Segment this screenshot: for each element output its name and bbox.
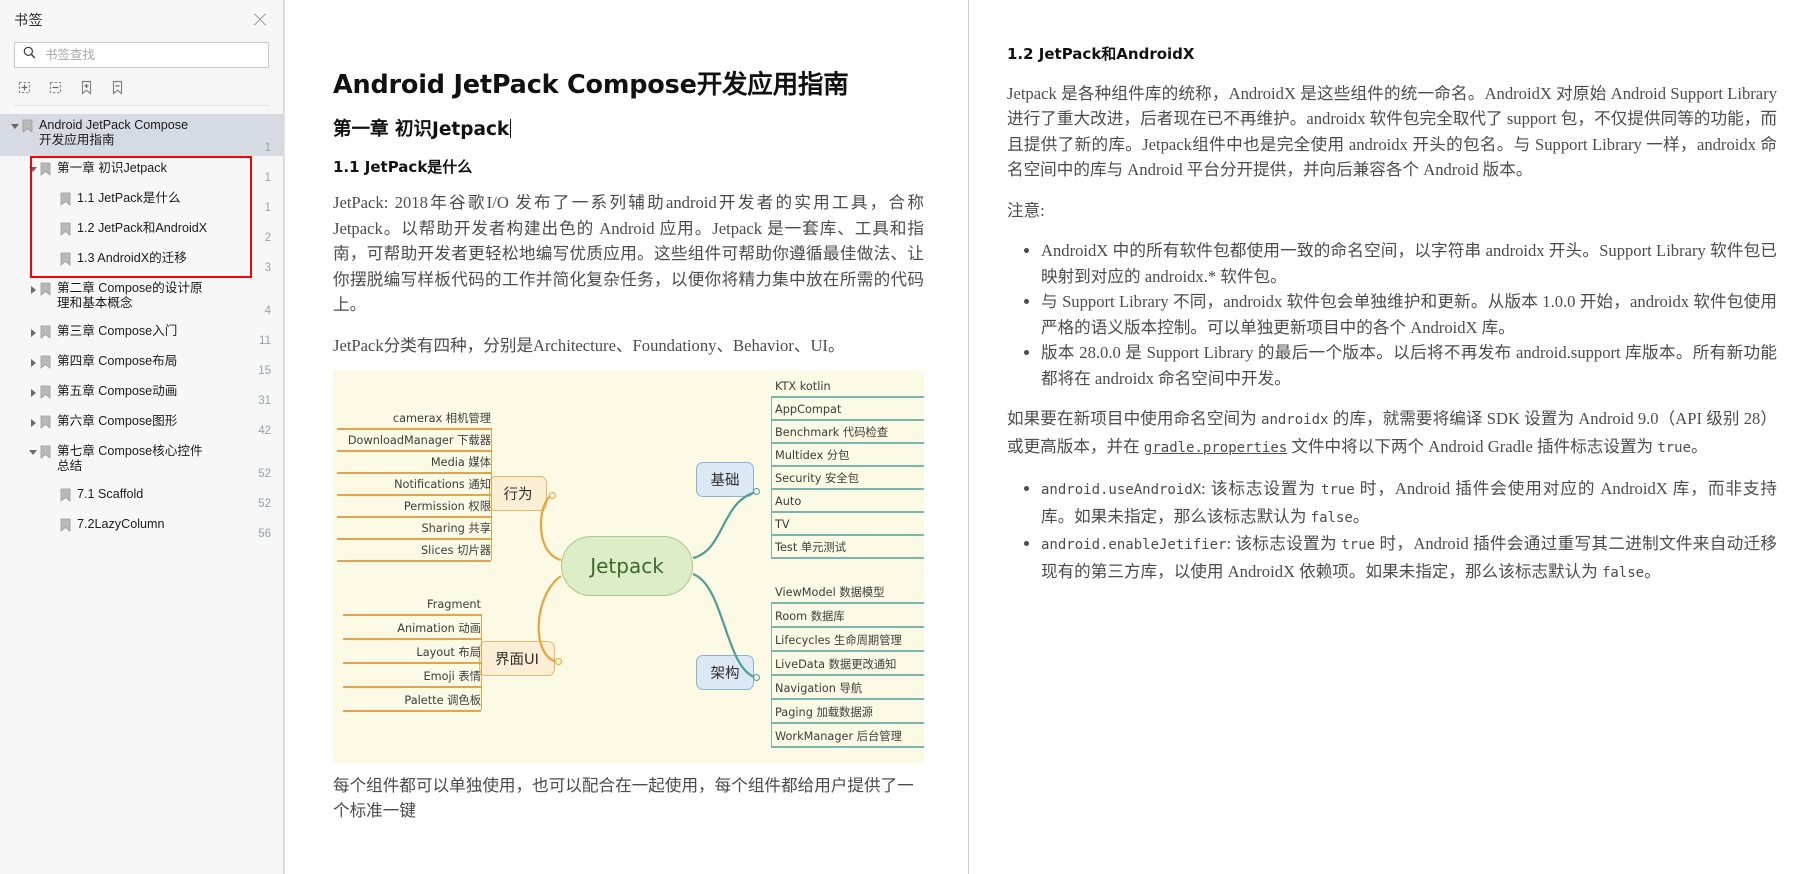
bookmark-icon bbox=[60, 518, 74, 537]
bookmark-page-number: 3 bbox=[265, 262, 271, 274]
bookmark-label: 第三章 Compose入门 bbox=[54, 324, 283, 339]
bookmark-page-number: 1 bbox=[265, 142, 271, 154]
bookmark-item[interactable]: 1.2 JetPack和AndroidX2 bbox=[0, 216, 283, 246]
bookmark-icon bbox=[40, 355, 54, 374]
bookmark-page-number: 56 bbox=[258, 528, 271, 540]
bookmark-page-number: 4 bbox=[265, 305, 271, 317]
note-label: 注意: bbox=[1007, 198, 1777, 224]
bookmark-icon bbox=[60, 192, 74, 211]
chevron-right-icon[interactable] bbox=[28, 325, 40, 341]
sidebar-title: 书签 bbox=[14, 10, 43, 30]
bookmark-item[interactable]: 第七章 Compose核心控件 总结52 bbox=[0, 439, 283, 482]
gradle-properties-link[interactable]: gradle.properties bbox=[1144, 440, 1287, 456]
list-item: 与 Support Library 不同，androidx 软件包会单独维护和更… bbox=[1041, 289, 1777, 340]
bookmark-icon bbox=[22, 119, 36, 138]
page-1: Android JetPack Compose开发应用指南 第一章 初识Jetp… bbox=[284, 0, 968, 874]
bookmark-icon bbox=[40, 415, 54, 434]
bookmark-item[interactable]: 第二章 Compose的设计原 理和基本概念4 bbox=[0, 276, 283, 319]
figure-caption: 每个组件都可以单独使用，也可以配合在一起使用，每个组件都给用户提供了一个标准一键 bbox=[333, 773, 924, 823]
close-icon[interactable] bbox=[251, 11, 269, 29]
right-paragraph-1: Jetpack 是各种组件库的统称，AndroidX 是这些组件的统一命名。An… bbox=[1007, 81, 1777, 183]
bookmark-page-number: 42 bbox=[258, 425, 271, 437]
expand-all-icon[interactable] bbox=[16, 79, 33, 96]
bookmark-label: 第二章 Compose的设计原 理和基本概念 bbox=[54, 281, 283, 311]
chapter-heading-text: 第一章 初识Jetpack bbox=[333, 119, 509, 140]
bookmark-tree: Android JetPack Compose 开发应用指南1第一章 初识Jet… bbox=[0, 110, 283, 874]
bookmark-icon bbox=[40, 445, 54, 464]
p2-text-a: 如果要在新项目中使用命名空间为 bbox=[1007, 409, 1261, 428]
bookmark-icon bbox=[60, 222, 74, 241]
bookmark-label: 第四章 Compose布局 bbox=[54, 354, 283, 369]
remove-bookmark-icon[interactable] bbox=[109, 79, 126, 96]
mindmap-branches bbox=[333, 370, 924, 763]
list-item: android.useAndroidX: 该标志设置为 true 时，Andro… bbox=[1041, 476, 1777, 531]
list-item: android.enableJetifier: 该标志设置为 true 时，An… bbox=[1041, 531, 1777, 586]
section-heading-1-2: 1.2 JetPack和AndroidX bbox=[1007, 45, 1777, 65]
list-item: 版本 28.0.0 是 Support Library 的最后一个版本。以后将不… bbox=[1041, 340, 1777, 391]
jetpack-mindmap-image: Jetpack 行为 界面UI 基础 架构 camerax 相机管理Downlo… bbox=[333, 370, 924, 763]
bookmark-label: 7.2LazyColumn bbox=[74, 517, 283, 532]
sidebar-toolbar bbox=[0, 68, 283, 105]
page-title: Android JetPack Compose开发应用指南 bbox=[333, 70, 924, 102]
p2-text-c: 文件中将以下两个 Android Gradle 插件标志设置为 bbox=[1287, 437, 1657, 456]
tree-spacer bbox=[48, 518, 60, 534]
bookmark-label: 第七章 Compose核心控件 总结 bbox=[54, 444, 283, 474]
bookmark-label: 第六章 Compose图形 bbox=[54, 414, 283, 429]
chevron-down-icon[interactable] bbox=[28, 162, 40, 178]
bookmark-page-number: 11 bbox=[259, 335, 271, 347]
bookmark-label: Android JetPack Compose 开发应用指南 bbox=[36, 118, 283, 148]
paragraph-1: JetPack: 2018年谷歌I/O 发布了一系列辅助android开发者的实… bbox=[333, 190, 924, 318]
bookmark-label: 1.3 AndroidX的迁移 bbox=[74, 251, 283, 266]
document-viewer[interactable]: Android JetPack Compose开发应用指南 第一章 初识Jetp… bbox=[284, 0, 1818, 874]
section-heading-1-1: 1.1 JetPack是什么 bbox=[333, 158, 924, 178]
bookmark-label: 7.1 Scaffold bbox=[74, 487, 283, 502]
bookmark-label: 1.1 JetPack是什么 bbox=[74, 191, 283, 206]
chevron-right-icon[interactable] bbox=[28, 355, 40, 371]
bookmark-label: 第一章 初识Jetpack bbox=[54, 161, 283, 176]
paragraph-2: JetPack分类有四种，分别是Architecture、Foundationy… bbox=[333, 333, 924, 359]
chevron-right-icon[interactable] bbox=[28, 385, 40, 401]
bookmark-item[interactable]: 1.3 AndroidX的迁移3 bbox=[0, 246, 283, 276]
chevron-down-icon[interactable] bbox=[28, 445, 40, 461]
bookmark-label: 1.2 JetPack和AndroidX bbox=[74, 221, 283, 236]
bookmark-item[interactable]: 7.1 Scaffold52 bbox=[0, 482, 283, 512]
bookmark-item[interactable]: 第四章 Compose布局15 bbox=[0, 349, 283, 379]
bookmark-icon bbox=[60, 488, 74, 507]
flag-name-enablejetifier: android.enableJetifier bbox=[1041, 537, 1226, 553]
bookmark-icon bbox=[40, 325, 54, 344]
chevron-right-icon[interactable] bbox=[28, 415, 40, 431]
chevron-down-icon[interactable] bbox=[10, 119, 22, 135]
add-bookmark-icon[interactable] bbox=[78, 79, 95, 96]
bookmark-item[interactable]: 第一章 初识Jetpack1 bbox=[0, 156, 283, 186]
inline-code-androidx: androidx bbox=[1261, 412, 1328, 428]
search-icon bbox=[23, 46, 36, 64]
bookmark-item[interactable]: 7.2LazyColumn56 bbox=[0, 512, 283, 542]
bookmark-page-number: 1 bbox=[265, 172, 271, 184]
bookmark-icon bbox=[60, 252, 74, 271]
tree-spacer bbox=[48, 252, 60, 268]
p2-text-d: 。 bbox=[1691, 437, 1708, 456]
bookmark-icon bbox=[40, 385, 54, 404]
search-box[interactable] bbox=[14, 42, 269, 68]
app-root: 书签 bbox=[0, 0, 1818, 874]
chevron-right-icon[interactable] bbox=[28, 282, 40, 298]
text-caret bbox=[510, 119, 511, 138]
gradle-flags-list: android.useAndroidX: 该标志设置为 true 时，Andro… bbox=[1007, 476, 1777, 586]
collapse-all-icon[interactable] bbox=[47, 79, 64, 96]
tree-spacer bbox=[48, 488, 60, 504]
bookmark-page-number: 31 bbox=[258, 395, 271, 407]
inline-code-true: true bbox=[1657, 440, 1691, 456]
bookmark-item[interactable]: 第五章 Compose动画31 bbox=[0, 379, 283, 409]
bookmarks-sidebar: 书签 bbox=[0, 0, 284, 874]
tree-spacer bbox=[48, 192, 60, 208]
bookmark-item[interactable]: 第六章 Compose图形42 bbox=[0, 409, 283, 439]
page-2: 1.2 JetPack和AndroidX Jetpack 是各种组件库的统称，A… bbox=[968, 0, 1817, 874]
flag-name-useandroidx: android.useAndroidX bbox=[1041, 482, 1201, 498]
bookmark-page-number: 1 bbox=[265, 202, 271, 214]
sidebar-header: 书签 bbox=[0, 0, 283, 40]
bookmark-item[interactable]: 1.1 JetPack是什么1 bbox=[0, 186, 283, 216]
bookmark-icon bbox=[40, 162, 54, 181]
bookmark-icon bbox=[40, 282, 54, 301]
chapter-heading: 第一章 初识Jetpack bbox=[333, 118, 924, 142]
search-container bbox=[0, 40, 283, 68]
toolbar-divider bbox=[14, 105, 269, 106]
search-input[interactable] bbox=[43, 47, 260, 63]
list-item: AndroidX 中的所有软件包都使用一致的命名空间，以字符串 androidx… bbox=[1041, 238, 1777, 289]
bookmark-page-number: 52 bbox=[258, 468, 271, 480]
bookmark-page-number: 2 bbox=[265, 232, 271, 244]
androidx-notes-list: AndroidX 中的所有软件包都使用一致的命名空间，以字符串 androidx… bbox=[1007, 238, 1777, 391]
bookmark-page-number: 15 bbox=[258, 365, 271, 377]
bookmark-label: 第五章 Compose动画 bbox=[54, 384, 283, 399]
bookmark-item[interactable]: 第三章 Compose入门11 bbox=[0, 319, 283, 349]
bookmark-page-number: 52 bbox=[258, 498, 271, 510]
bookmark-item[interactable]: Android JetPack Compose 开发应用指南1 bbox=[0, 114, 283, 156]
tree-spacer bbox=[48, 222, 60, 238]
right-paragraph-2: 如果要在新项目中使用命名空间为 androidx 的库，就需要将编译 SDK 设… bbox=[1007, 406, 1777, 461]
